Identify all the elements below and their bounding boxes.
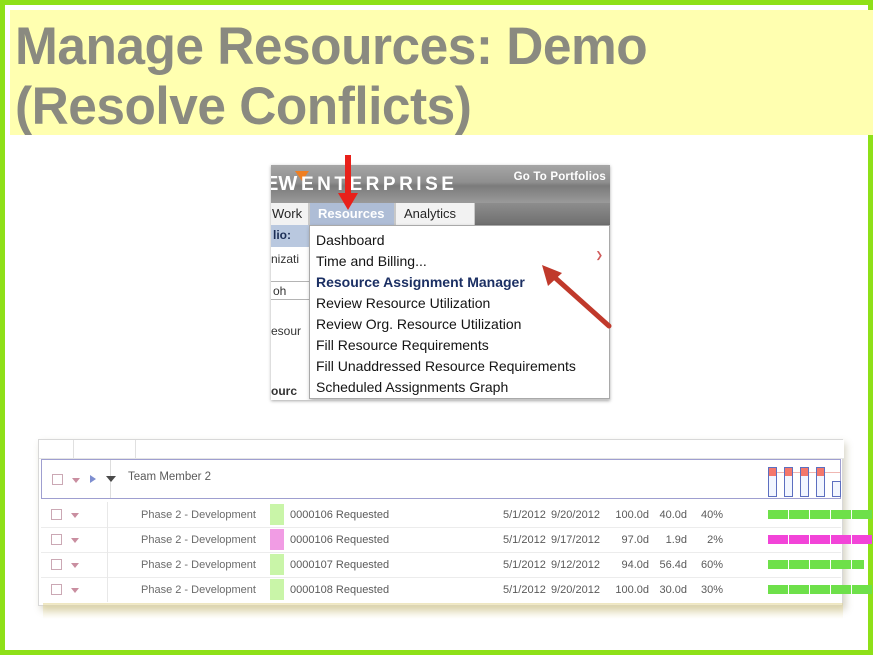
diagonal-arrow-icon (534, 260, 616, 330)
group-row-checkbox[interactable] (52, 476, 63, 485)
row-checkbox[interactable] (51, 586, 62, 595)
row-request: 0000108 Requested (290, 584, 389, 596)
menu-item-dashboard[interactable]: Dashboard (316, 229, 385, 251)
row-percent: 60% (689, 559, 723, 571)
allocation-bar (816, 467, 825, 497)
row-duration: 97.0d (607, 534, 649, 546)
row-start-date: 5/1/2012 (503, 534, 546, 546)
row-divider (107, 527, 108, 552)
row-dropdown-caret-icon[interactable] (71, 538, 79, 543)
row-checkbox[interactable] (51, 536, 62, 545)
bg-fragment-portfolio: lio: (273, 228, 291, 242)
row-timeline-bar (768, 510, 872, 519)
row-status: Requested (336, 534, 389, 546)
grid-column-header-strip (39, 440, 844, 459)
grid-shadow-tint (43, 603, 843, 619)
row-start-date: 5/1/2012 (503, 509, 546, 521)
row-status: Requested (336, 559, 389, 571)
row-duration: 100.0d (607, 584, 649, 596)
row-dropdown-caret-icon[interactable] (71, 588, 79, 593)
row-request: 0000107 Requested (290, 559, 389, 571)
tab-work[interactable]: Work (271, 203, 309, 225)
page-title: Manage Resources: Demo (Resolve Conflict… (15, 17, 849, 137)
table-row[interactable]: Phase 2 - Development 0000107 Requested … (41, 552, 841, 578)
bg-divider-2 (271, 299, 313, 300)
go-to-portfolios-link[interactable]: Go To Portfolios (514, 171, 606, 183)
logo-wordmark: ENTERPRISE (301, 174, 457, 196)
row-phase: Phase 2 - Development (141, 509, 256, 521)
bg-fragment-graph: oh (273, 284, 286, 298)
row-request-id: 0000108 (290, 584, 333, 596)
row-work: 1.9d (651, 534, 687, 546)
row-request: 0000106 Requested (290, 509, 389, 521)
down-arrow-icon (337, 155, 359, 210)
row-request-id: 0000106 (290, 509, 333, 521)
row-phase: Phase 2 - Development (141, 534, 256, 546)
row-request-id: 0000106 (290, 534, 333, 546)
row-start-date: 5/1/2012 (503, 584, 546, 596)
row-timeline-bar (768, 585, 872, 594)
row-work: 30.0d (651, 584, 687, 596)
row-work: 40.0d (651, 509, 687, 521)
menu-item-review-resource-utilization[interactable]: Review Resource Utilization (316, 292, 490, 314)
table-row[interactable]: Phase 2 - Development 0000108 Requested … (41, 577, 841, 602)
row-work: 56.4d (651, 559, 687, 571)
logo-prefix-text: EW (271, 173, 297, 196)
row-percent: 30% (689, 584, 723, 596)
menu-item-review-org-resource-utilization[interactable]: Review Org. Resource Utilization (316, 313, 521, 335)
row-start-date: 5/1/2012 (503, 559, 546, 571)
row-status: Requested (336, 584, 389, 596)
row-checkbox[interactable] (51, 511, 62, 520)
row-duration: 94.0d (607, 559, 649, 571)
allocation-bar (832, 481, 841, 497)
allocation-bar (784, 467, 793, 497)
menu-item-time-and-billing[interactable]: Time and Billing... (316, 250, 427, 272)
row-divider (107, 502, 108, 527)
row-color-swatch (270, 554, 284, 575)
row-finish-date: 9/20/2012 (551, 584, 600, 596)
row-duration: 100.0d (607, 509, 649, 521)
slide-frame: Manage Resources: Demo (Resolve Conflict… (0, 0, 873, 655)
row-color-swatch (270, 529, 284, 550)
row-finish-date: 9/20/2012 (551, 509, 600, 521)
tab-analytics[interactable]: Analytics (395, 203, 475, 225)
row-status: Requested (336, 509, 389, 521)
row-timeline-bar (768, 535, 872, 544)
menu-item-fill-unaddressed-resource-requirements[interactable]: Fill Unaddressed Resource Requirements (316, 355, 576, 377)
collapse-triangle-icon[interactable] (106, 476, 116, 482)
resource-assignment-grid: Team Member 2 Phase 2 - Development 0000… (38, 439, 843, 606)
table-row[interactable]: Phase 2 - Development 0000106 Requested … (41, 502, 841, 528)
row-color-swatch (270, 504, 284, 525)
row-timeline-bar (768, 560, 864, 569)
row-percent: 2% (689, 534, 723, 546)
row-dropdown-caret-icon[interactable] (71, 563, 79, 568)
group-row-team-member[interactable]: Team Member 2 (41, 459, 841, 499)
group-row-dropdown-caret-icon[interactable] (72, 478, 80, 483)
expand-right-triangle-icon[interactable] (90, 475, 96, 483)
menu-item-fill-resource-requirements[interactable]: Fill Resource Requirements (316, 334, 489, 356)
bg-fragment-organization: nizati (271, 252, 299, 266)
row-finish-date: 9/17/2012 (551, 534, 600, 546)
row-checkbox[interactable] (51, 561, 62, 570)
row-divider (107, 552, 108, 577)
row-finish-date: 9/12/2012 (551, 559, 600, 571)
table-row[interactable]: Phase 2 - Development 0000106 Requested … (41, 527, 841, 553)
row-request: 0000106 Requested (290, 534, 389, 546)
team-member-label: Team Member 2 (128, 471, 211, 483)
allocation-bar (768, 467, 777, 497)
bg-fragment-source: ourc (271, 384, 297, 398)
allocation-bar (800, 467, 809, 497)
bg-fragment-resource: esour (271, 324, 301, 338)
menu-item-resource-assignment-manager[interactable]: Resource Assignment Manager (316, 271, 525, 293)
row-dropdown-caret-icon[interactable] (71, 513, 79, 518)
menu-item-scheduled-assignments-graph[interactable]: Scheduled Assignments Graph (316, 376, 508, 398)
app-tab-bar: Work Resources Analytics (271, 203, 610, 225)
row-percent: 40% (689, 509, 723, 521)
row-phase: Phase 2 - Development (141, 559, 256, 571)
row-request-id: 0000107 (290, 559, 333, 571)
row-phase: Phase 2 - Development (141, 584, 256, 596)
row-divider (107, 577, 108, 602)
allocation-bar-chart (768, 463, 840, 497)
row-color-swatch (270, 579, 284, 600)
bg-divider-1 (271, 281, 313, 282)
app-header-bar: EW ENTERPRISE Go To Portfolios (271, 165, 610, 203)
